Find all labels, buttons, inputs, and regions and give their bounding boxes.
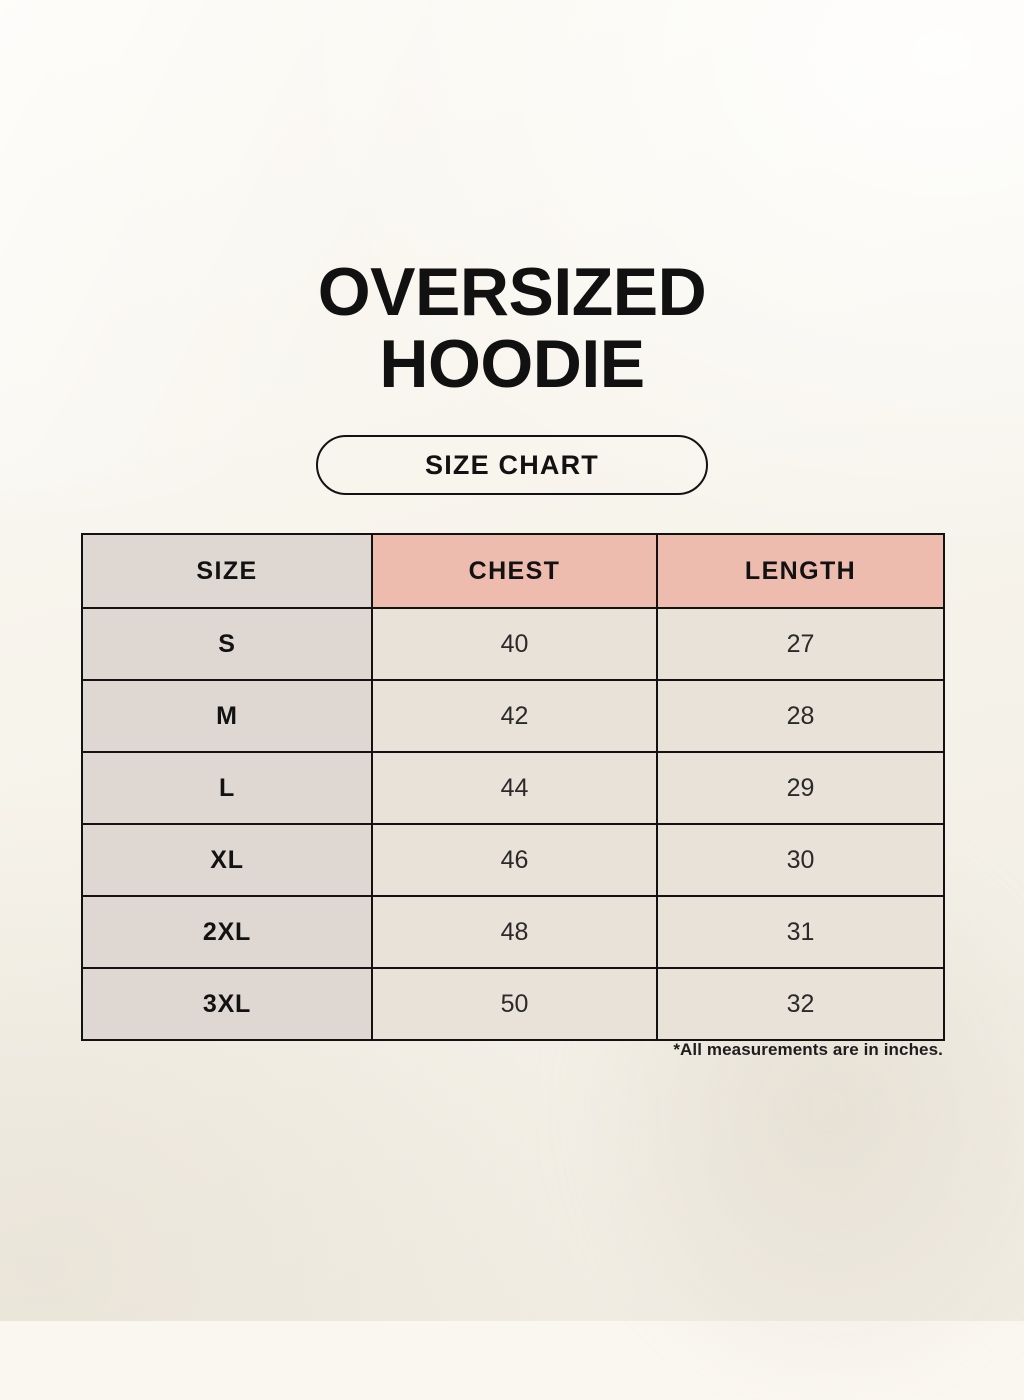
cell-size: XL [82, 824, 372, 896]
cell-size: M [82, 680, 372, 752]
title-line-1: OVERSIZED [0, 258, 1024, 326]
size-table-container: SIZE CHEST LENGTH S 40 27 M 42 28 L [81, 533, 943, 1041]
title-line-2: HOODIE [0, 330, 1024, 398]
cell-size: 3XL [82, 968, 372, 1040]
table-row: L 44 29 [82, 752, 944, 824]
column-header-length: LENGTH [657, 534, 944, 608]
size-chart-badge: SIZE CHART [316, 435, 708, 495]
cell-size: L [82, 752, 372, 824]
table-row: XL 46 30 [82, 824, 944, 896]
cell-size: 2XL [82, 896, 372, 968]
size-table-header: SIZE CHEST LENGTH [82, 534, 944, 608]
cell-chest: 44 [372, 752, 657, 824]
size-chart-badge-label: SIZE CHART [425, 450, 599, 481]
cell-length: 28 [657, 680, 944, 752]
measurements-footnote: *All measurements are in inches. [81, 1040, 943, 1060]
page-title: OVERSIZED HOODIE [0, 258, 1024, 398]
cell-chest: 42 [372, 680, 657, 752]
table-row: 3XL 50 32 [82, 968, 944, 1040]
cell-chest: 46 [372, 824, 657, 896]
table-row: S 40 27 [82, 608, 944, 680]
size-table-body: S 40 27 M 42 28 L 44 29 XL 46 30 [82, 608, 944, 1040]
cell-chest: 40 [372, 608, 657, 680]
table-header-row: SIZE CHEST LENGTH [82, 534, 944, 608]
cell-length: 32 [657, 968, 944, 1040]
cell-chest: 48 [372, 896, 657, 968]
cell-length: 27 [657, 608, 944, 680]
table-row: M 42 28 [82, 680, 944, 752]
cell-length: 31 [657, 896, 944, 968]
size-table: SIZE CHEST LENGTH S 40 27 M 42 28 L [81, 533, 945, 1041]
size-chart-page: OVERSIZED HOODIE SIZE CHART SIZE CHEST L… [0, 0, 1024, 1321]
column-header-chest: CHEST [372, 534, 657, 608]
cell-length: 30 [657, 824, 944, 896]
column-header-size: SIZE [82, 534, 372, 608]
table-row: 2XL 48 31 [82, 896, 944, 968]
cell-size: S [82, 608, 372, 680]
cell-length: 29 [657, 752, 944, 824]
cell-chest: 50 [372, 968, 657, 1040]
